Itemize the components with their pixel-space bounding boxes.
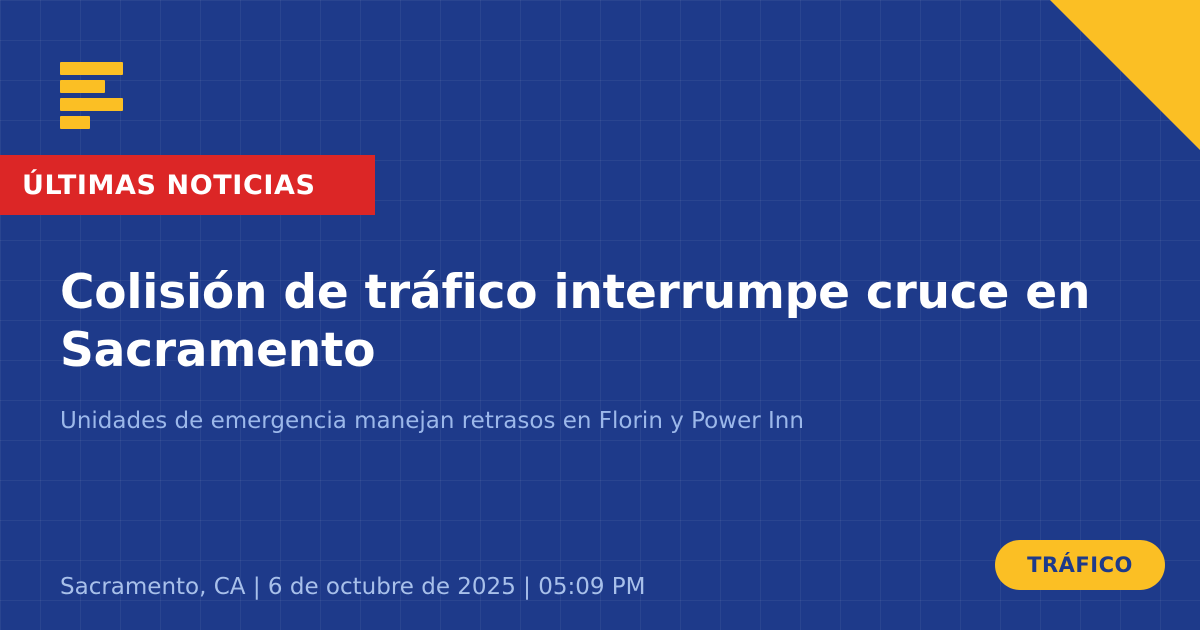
logo-bar-3: [60, 98, 123, 111]
headline: Colisión de tráfico interrumpe cruce en …: [60, 264, 1180, 379]
category-badge-label: TRÁFICO: [1027, 555, 1133, 576]
subtitle: Unidades de emergencia manejan retrasos …: [60, 406, 1120, 437]
breaking-news-badge-label: ÚLTIMAS NOTICIAS: [22, 172, 316, 199]
breaking-news-badge: ÚLTIMAS NOTICIAS: [0, 155, 375, 215]
category-badge[interactable]: TRÁFICO: [995, 540, 1165, 590]
logo-bar-2: [60, 80, 105, 93]
news-logo[interactable]: [60, 62, 130, 132]
footer-meta-line: Sacramento, CA | 6 de octubre de 2025 | …: [60, 574, 646, 602]
logo-bar-1: [60, 62, 123, 75]
logo-bar-4: [60, 116, 90, 129]
yellow-corner-triangle-decoration: [1050, 0, 1200, 150]
breaking-news-card: ÚLTIMAS NOTICIAS Colisión de tráfico int…: [0, 0, 1200, 630]
